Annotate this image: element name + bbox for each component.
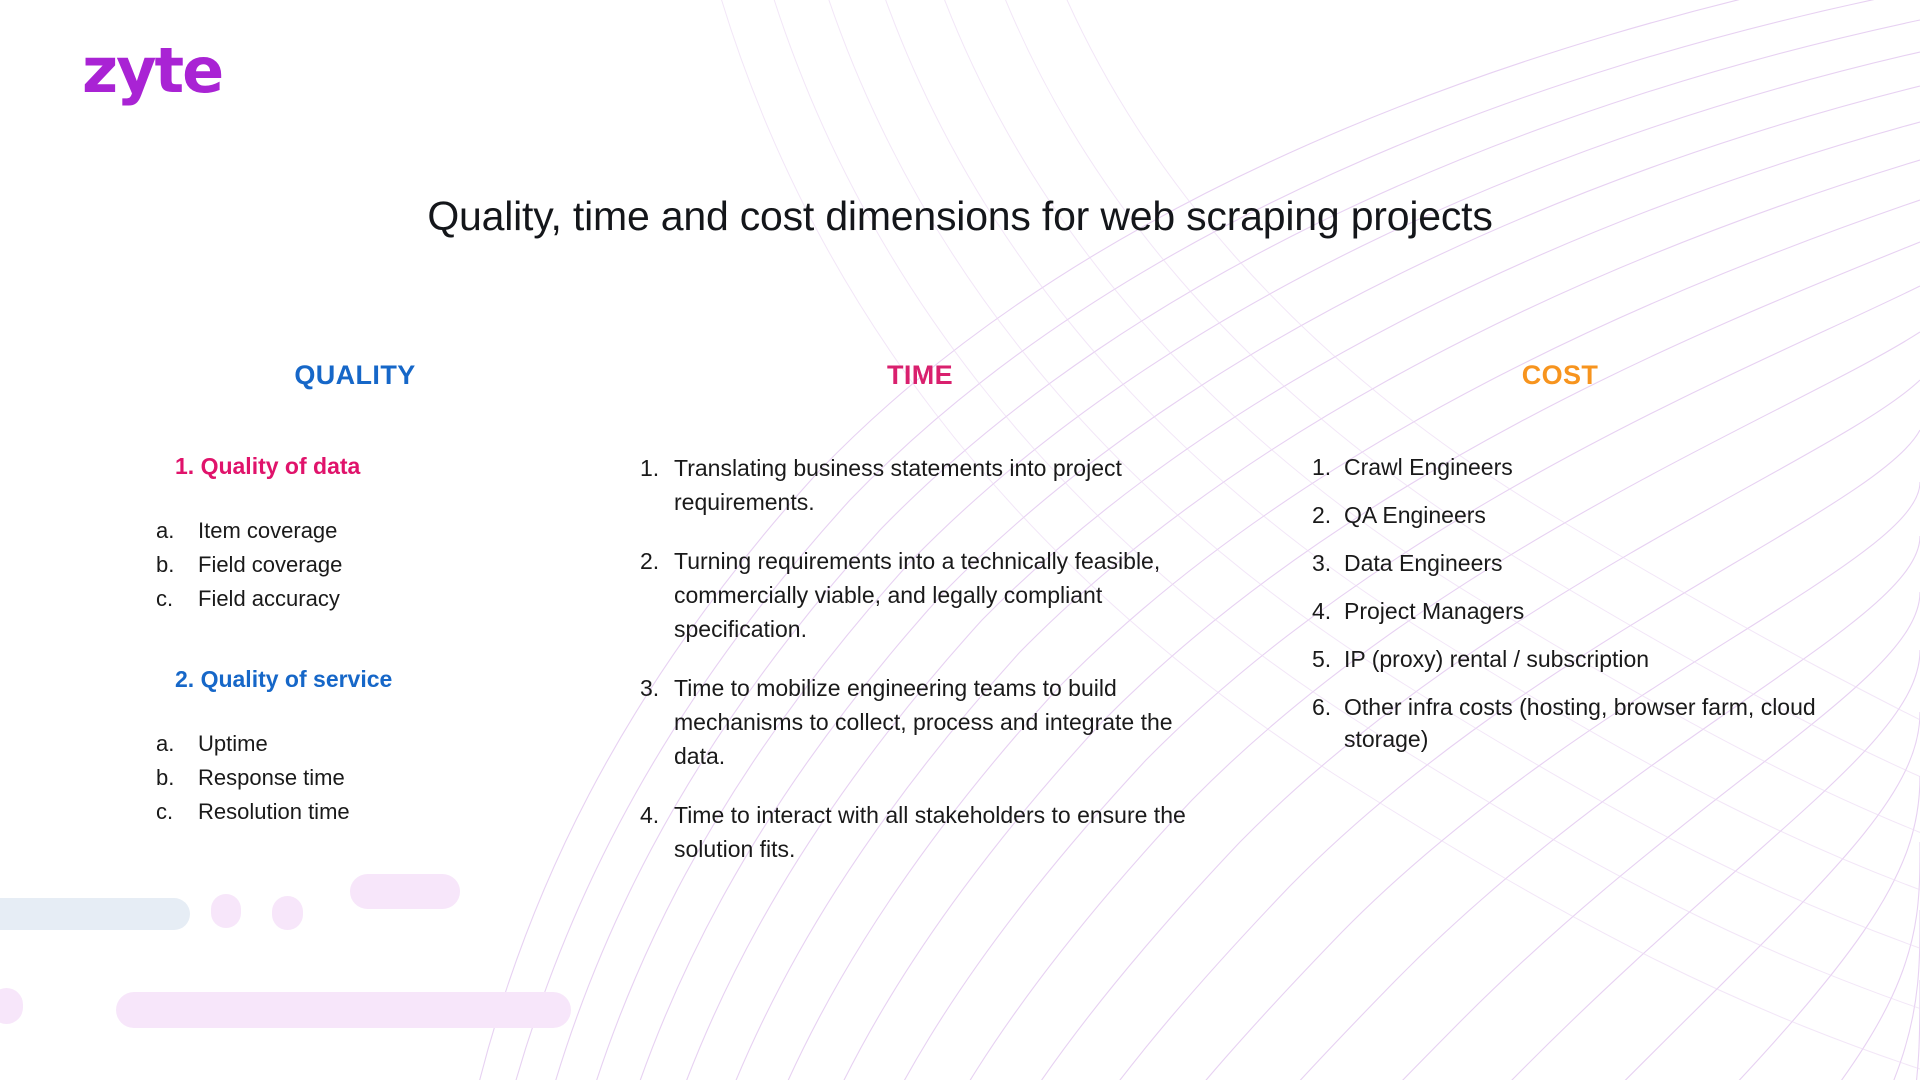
- pill-pink-dot-3: [0, 988, 23, 1024]
- list-item: a. Item coverage: [156, 514, 590, 548]
- list-label: Translating business statements into pro…: [674, 451, 1200, 519]
- list-label: Time to interact with all stakeholders t…: [674, 798, 1200, 866]
- group-spacer: [175, 616, 590, 666]
- list-marker: 1.: [640, 451, 674, 519]
- columns-container: QUALITY 1. Quality of data a. Item cover…: [0, 360, 1920, 980]
- list-marker: 4.: [1312, 595, 1344, 627]
- time-body: 1. Translating business statements into …: [640, 451, 1200, 866]
- cost-body: 1. Crawl Engineers 2. QA Engineers 3. Da…: [1300, 451, 1820, 755]
- quality-group-1: 1. Quality of data a. Item coverage b. F…: [175, 453, 590, 616]
- list-item: 2. QA Engineers: [1312, 499, 1820, 531]
- quality-body: 1. Quality of data a. Item coverage b. F…: [120, 453, 590, 829]
- list-item: 1. Crawl Engineers: [1312, 451, 1820, 483]
- list-item: 4. Time to interact with all stakeholder…: [640, 798, 1200, 866]
- column-heading-time: TIME: [640, 360, 1200, 391]
- list-item: 3. Data Engineers: [1312, 547, 1820, 579]
- list-label: Uptime: [198, 727, 268, 761]
- column-cost: COST 1. Crawl Engineers 2. QA Engineers …: [1300, 360, 1820, 771]
- pill-pink-bar-2: [116, 992, 571, 1028]
- list-marker: 3.: [640, 671, 674, 773]
- list-marker: 4.: [640, 798, 674, 866]
- list-item: 3. Time to mobilize engineering teams to…: [640, 671, 1200, 773]
- list-marker: 1.: [1312, 451, 1344, 483]
- list-item: 2. Turning requirements into a technical…: [640, 544, 1200, 646]
- list-label: Data Engineers: [1344, 547, 1820, 579]
- list-item: c. Field accuracy: [156, 582, 590, 616]
- list-label: IP (proxy) rental / subscription: [1344, 643, 1820, 675]
- column-heading-quality: QUALITY: [120, 360, 590, 391]
- list-item: 4. Project Managers: [1312, 595, 1820, 627]
- list-item: 6. Other infra costs (hosting, browser f…: [1312, 691, 1820, 755]
- list-marker: a.: [156, 514, 198, 548]
- zyte-logo[interactable]: zyte: [82, 40, 222, 102]
- list-label: Crawl Engineers: [1344, 451, 1820, 483]
- list-label: Item coverage: [198, 514, 337, 548]
- slide-title: Quality, time and cost dimensions for we…: [0, 192, 1920, 241]
- list-label: Field accuracy: [198, 582, 340, 616]
- list-marker: 3.: [1312, 547, 1344, 579]
- list-marker: 2.: [640, 544, 674, 646]
- list-label: Response time: [198, 761, 345, 795]
- list-marker: 2.: [1312, 499, 1344, 531]
- list-item: 5. IP (proxy) rental / subscription: [1312, 643, 1820, 675]
- list-marker: a.: [156, 727, 198, 761]
- list-label: Other infra costs (hosting, browser farm…: [1344, 691, 1820, 755]
- list-marker: 5.: [1312, 643, 1344, 675]
- list-label: QA Engineers: [1344, 499, 1820, 531]
- list-marker: b.: [156, 548, 198, 582]
- list-marker: 6.: [1312, 691, 1344, 755]
- column-quality: QUALITY 1. Quality of data a. Item cover…: [120, 360, 590, 829]
- list-label: Project Managers: [1344, 595, 1820, 627]
- list-item: a. Uptime: [156, 727, 590, 761]
- quality-group-title: 2. Quality of service: [175, 666, 590, 693]
- list-item: c. Resolution time: [156, 795, 590, 829]
- quality-group-title: 1. Quality of data: [175, 453, 590, 480]
- list-marker: b.: [156, 761, 198, 795]
- column-heading-cost: COST: [1300, 360, 1820, 391]
- quality-group-2: 2. Quality of service a. Uptime b. Respo…: [175, 666, 590, 829]
- slide-root: zyte Quality, time and cost dimensions f…: [0, 0, 1920, 1080]
- list-marker: c.: [156, 582, 198, 616]
- list-label: Field coverage: [198, 548, 342, 582]
- list-item: b. Field coverage: [156, 548, 590, 582]
- list-label: Time to mobilize engineering teams to bu…: [674, 671, 1200, 773]
- quality-sublist: a. Item coverage b. Field coverage c. Fi…: [175, 514, 590, 616]
- list-marker: c.: [156, 795, 198, 829]
- list-label: Turning requirements into a technically …: [674, 544, 1200, 646]
- quality-sublist: a. Uptime b. Response time c. Resolution…: [175, 727, 590, 829]
- column-time: TIME 1. Translating business statements …: [640, 360, 1200, 891]
- list-label: Resolution time: [198, 795, 350, 829]
- list-item: 1. Translating business statements into …: [640, 451, 1200, 519]
- list-item: b. Response time: [156, 761, 590, 795]
